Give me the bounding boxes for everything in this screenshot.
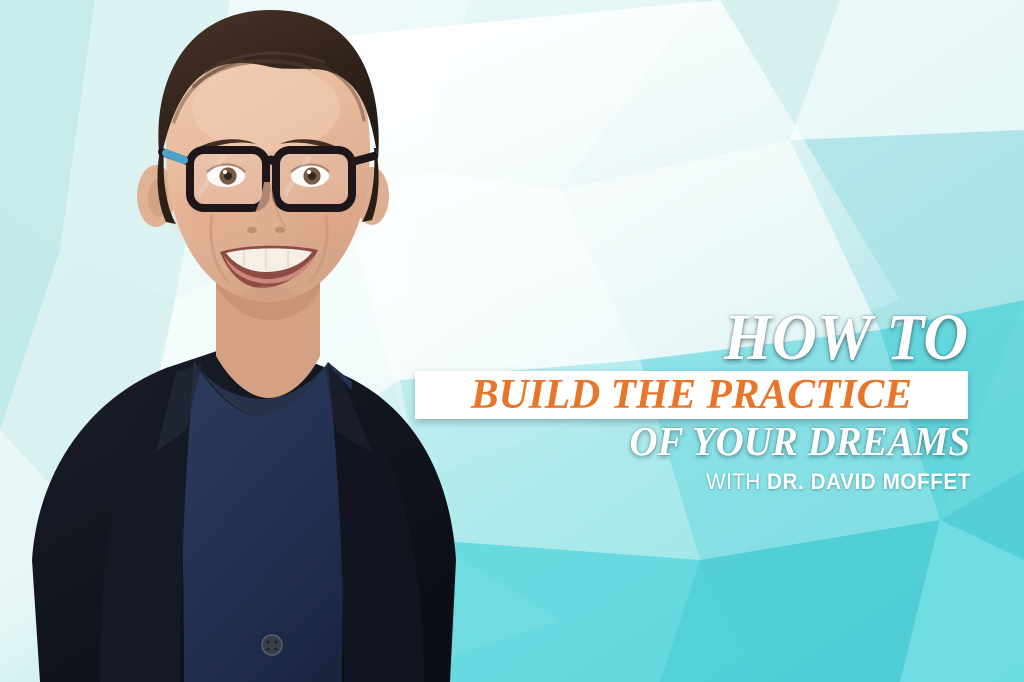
- portrait-dr-david-moffet: [0, 0, 540, 682]
- podcast-cover-art: HOW TO BUILD THE PRACTICE OF YOUR DREAMS…: [0, 0, 1024, 682]
